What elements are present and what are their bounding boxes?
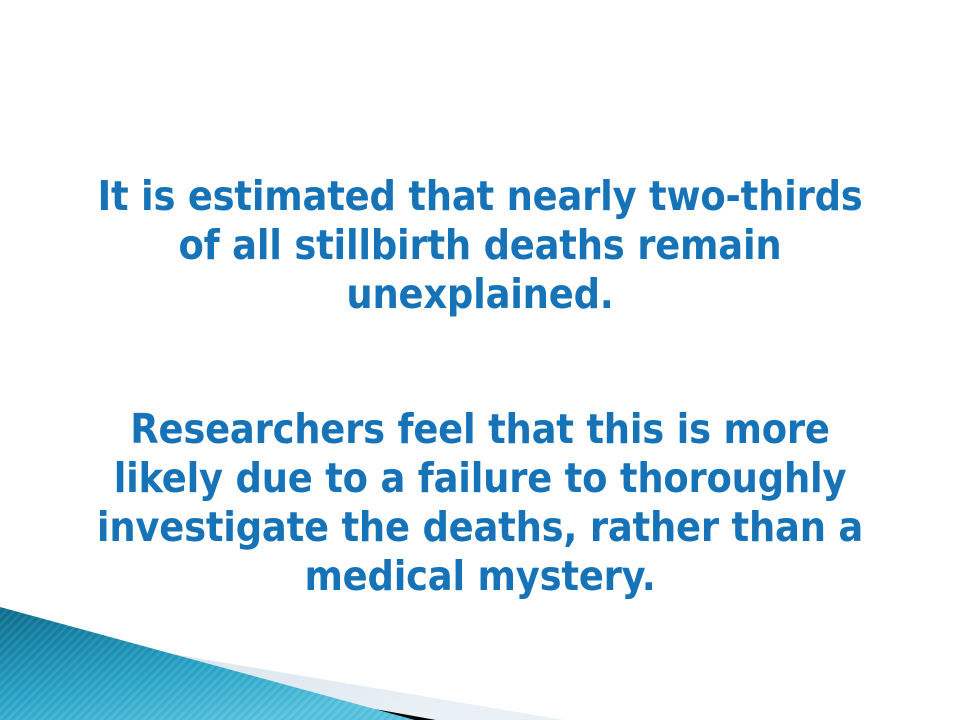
teal-wedge: [0, 607, 415, 720]
slide-canvas: It is estimated that nearly two-thirds o…: [0, 0, 960, 720]
bottom-left-corner-decoration: [0, 590, 600, 720]
teal-wedge-texture: [0, 607, 415, 720]
paragraph-2: Researchers feel that this is more likel…: [60, 405, 900, 601]
pale-blue-band: [0, 625, 565, 720]
angled-banner-graphic: [0, 590, 600, 720]
black-stripe: [0, 642, 436, 720]
paragraph-spacer: [60, 319, 900, 405]
paragraph-1: It is estimated that nearly two-thirds o…: [60, 172, 900, 319]
slide-body-text: It is estimated that nearly two-thirds o…: [60, 172, 900, 601]
